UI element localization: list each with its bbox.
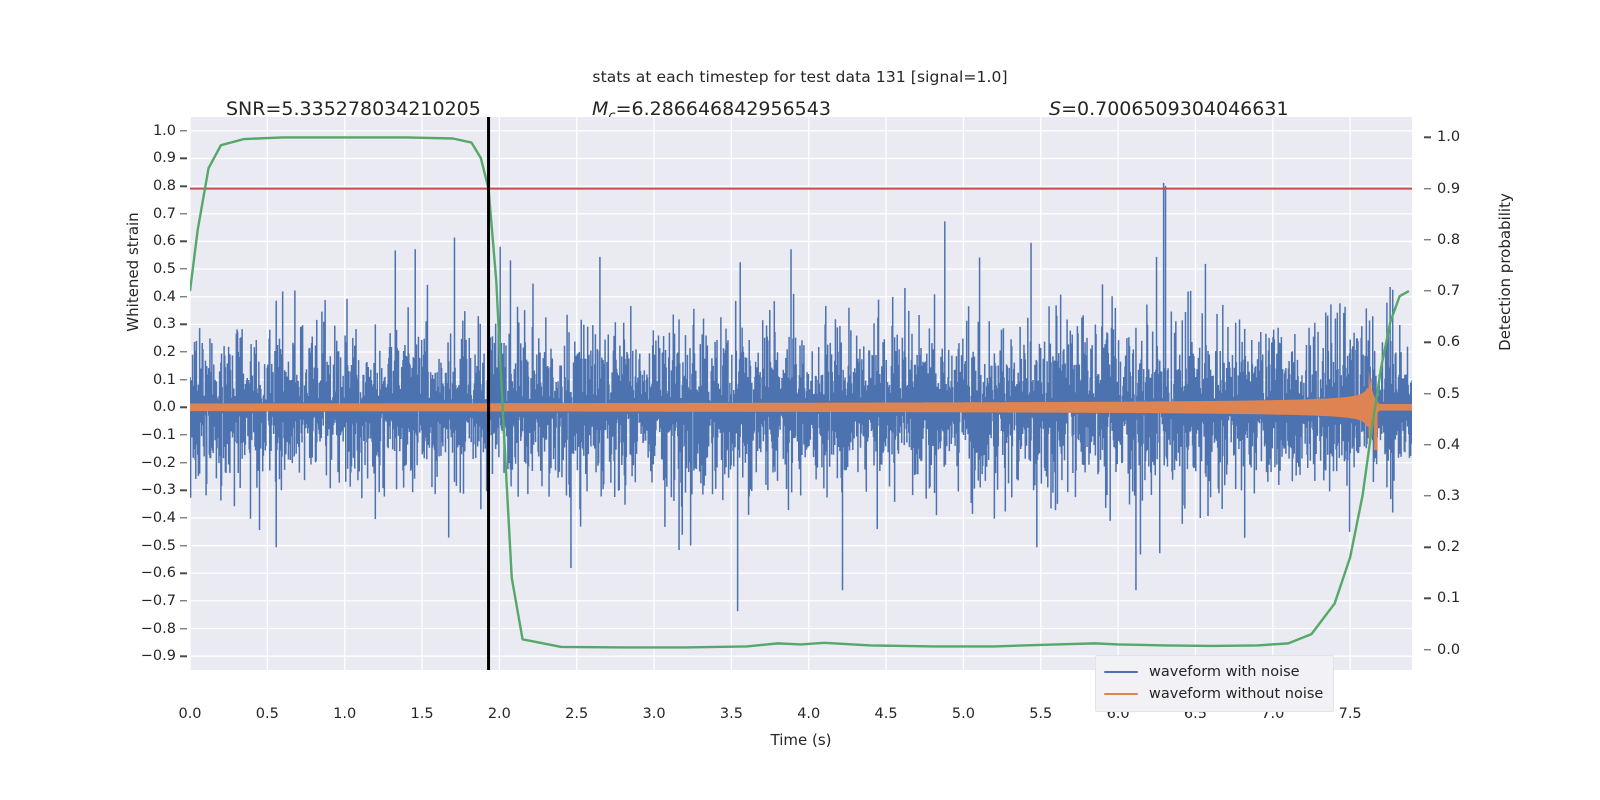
- tick-mark: [180, 628, 187, 629]
- x-tick: 5.5: [1029, 706, 1052, 722]
- tick-mark: [180, 268, 187, 269]
- tick-mark: [1424, 342, 1431, 343]
- figure: stats at each timestep for test data 131…: [0, 0, 1600, 800]
- tick-mark: [1424, 393, 1431, 394]
- legend: waveform with noise waveform without noi…: [1095, 655, 1334, 712]
- legend-item-noise: waveform with noise: [1104, 661, 1323, 683]
- y-tick-right: 0.6: [1424, 334, 1497, 350]
- y-tick-right: 0.2: [1424, 539, 1497, 555]
- tick-mark: [1424, 239, 1431, 240]
- tick-mark: [180, 213, 187, 214]
- tick-mark: [180, 185, 187, 186]
- tick-mark: [180, 573, 187, 574]
- plot-area: [190, 117, 1412, 670]
- y-tick-right: 0.0: [1424, 642, 1497, 658]
- tick-mark: [1424, 598, 1431, 599]
- y-axis-left-label: Whitened strain: [124, 0, 142, 672]
- y-tick-right: 0.4: [1424, 437, 1497, 453]
- tick-mark: [180, 545, 187, 546]
- y-tick-right: 0.8: [1424, 232, 1497, 248]
- tick-mark: [180, 241, 187, 242]
- legend-swatch-noise: [1104, 671, 1138, 674]
- tick-mark: [1424, 188, 1431, 189]
- tick-mark: [180, 379, 187, 380]
- y-axis-right-label: Detection probability: [1496, 0, 1514, 672]
- x-tick: 2.5: [565, 706, 588, 722]
- tick-mark: [180, 130, 187, 131]
- x-tick: 1.5: [410, 706, 433, 722]
- chart-title: stats at each timestep for test data 131…: [0, 68, 1600, 86]
- x-tick: 3.0: [643, 706, 666, 722]
- x-tick: 5.0: [952, 706, 975, 722]
- tick-mark: [180, 407, 187, 408]
- tick-mark: [180, 351, 187, 352]
- x-tick: 0.0: [178, 706, 201, 722]
- tick-mark: [180, 296, 187, 297]
- x-tick: 7.5: [1339, 706, 1362, 722]
- x-axis-label: Time (s): [190, 731, 1412, 749]
- tick-mark: [180, 324, 187, 325]
- tick-mark: [180, 517, 187, 518]
- tick-mark: [1424, 649, 1431, 650]
- tick-mark: [1424, 495, 1431, 496]
- tick-mark: [1424, 137, 1431, 138]
- tick-mark: [180, 462, 187, 463]
- legend-label-noise: waveform with noise: [1149, 664, 1300, 680]
- x-tick: 1.0: [333, 706, 356, 722]
- tick-mark: [1424, 546, 1431, 547]
- y-tick-right: 0.9: [1424, 181, 1497, 197]
- tick-mark: [180, 490, 187, 491]
- y-tick-right: 0.5: [1424, 386, 1497, 402]
- noise-trace: [190, 183, 1412, 611]
- tick-mark: [180, 434, 187, 435]
- y-tick-right: 1.0: [1424, 129, 1497, 145]
- tick-mark: [180, 655, 187, 656]
- tick-mark: [180, 158, 187, 159]
- tick-mark: [180, 600, 187, 601]
- plot-canvas: [190, 117, 1412, 670]
- x-tick: 2.0: [488, 706, 511, 722]
- x-tick: 4.5: [875, 706, 898, 722]
- x-tick: 0.5: [256, 706, 279, 722]
- x-tick: 4.0: [797, 706, 820, 722]
- tick-mark: [1424, 290, 1431, 291]
- y-tick-right: 0.1: [1424, 590, 1497, 606]
- legend-label-signal: waveform without noise: [1149, 686, 1323, 702]
- legend-swatch-signal: [1104, 693, 1138, 696]
- legend-item-signal: waveform without noise: [1104, 683, 1323, 705]
- y-tick-right: 0.3: [1424, 488, 1497, 504]
- x-tick: 3.5: [720, 706, 743, 722]
- series-waveform-with-noise: [190, 183, 1412, 611]
- tick-mark: [1424, 444, 1431, 445]
- y-tick-right: 0.7: [1424, 283, 1497, 299]
